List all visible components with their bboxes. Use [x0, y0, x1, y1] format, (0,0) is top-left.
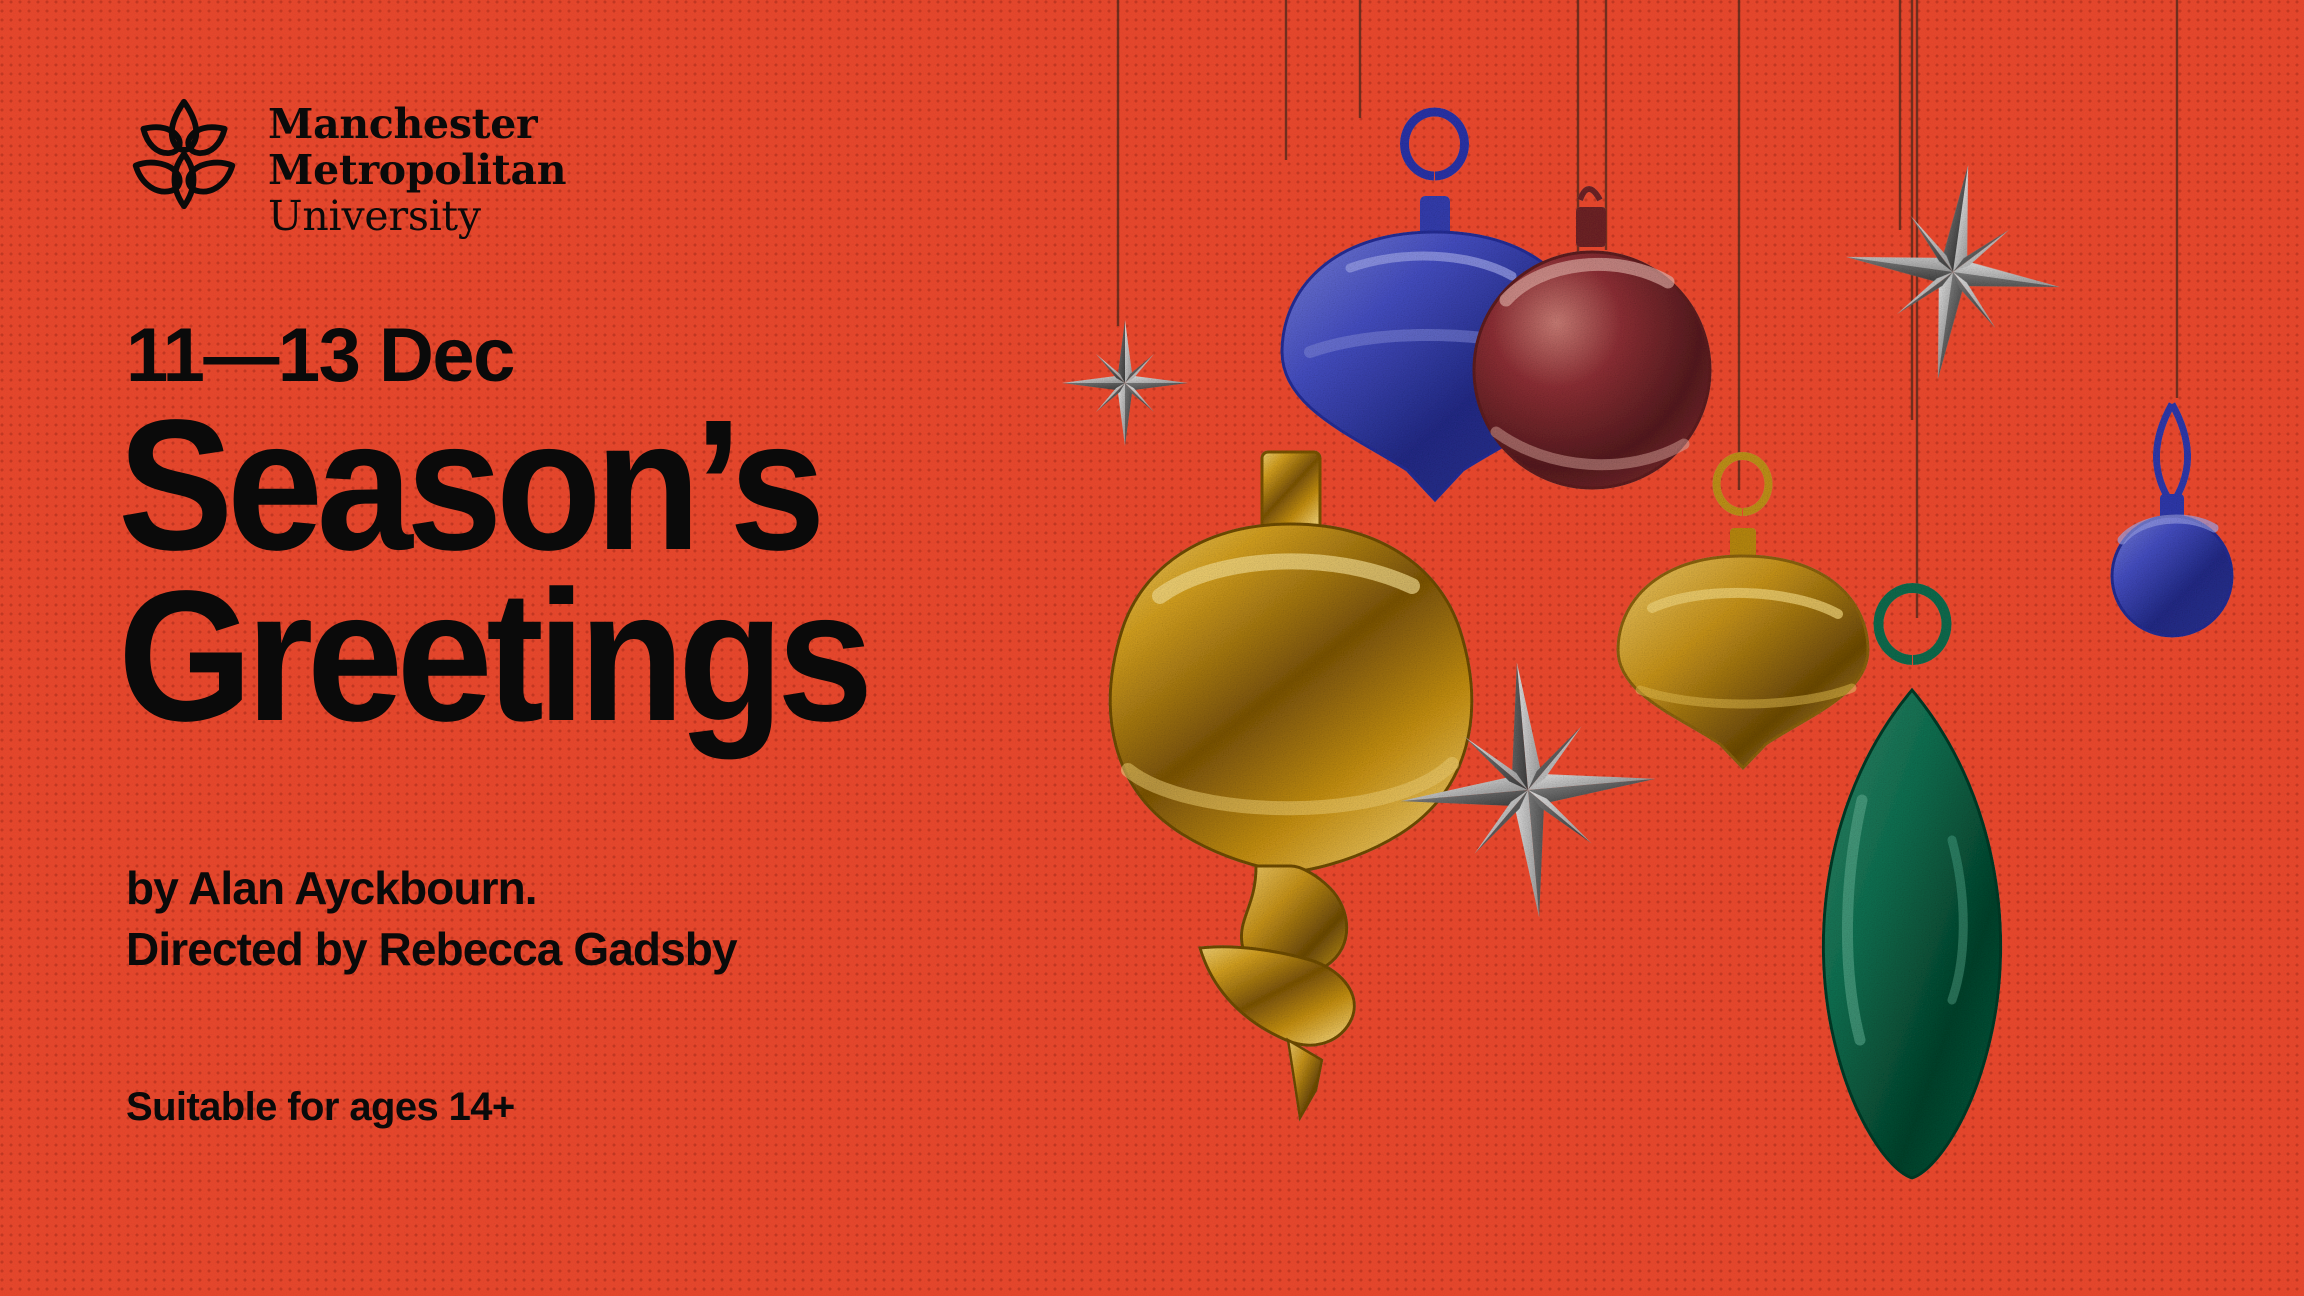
poster-canvas: Manchester Metropolitan University 11—13… — [0, 0, 2304, 1296]
text-column: Manchester Metropolitan University 11—13… — [126, 0, 1126, 1296]
gold-onion-ornament — [1618, 456, 1868, 768]
logo-line-3: University — [268, 196, 566, 237]
university-logo: Manchester Metropolitan University — [126, 96, 566, 237]
title-line-1: Season’s — [118, 400, 867, 571]
blue-small-bauble-ornament — [2112, 404, 2232, 636]
manchester-met-lotus-mark — [126, 96, 242, 212]
credit-author: by Alan Ayckbourn. — [126, 858, 737, 919]
credits-block: by Alan Ayckbourn. Directed by Rebecca G… — [126, 858, 737, 979]
age-guidance: Suitable for ages 14+ — [126, 1085, 515, 1130]
red-bauble-ornament — [1474, 189, 1710, 488]
green-teardrop-ornament — [1823, 588, 2000, 1178]
title-line-2: Greetings — [118, 571, 867, 742]
blue-onion-ornament — [1282, 112, 1588, 500]
page-title: Season’s Greetings — [118, 400, 867, 742]
credit-director: Directed by Rebecca Gadsby — [126, 919, 737, 980]
logo-line-2: Metropolitan — [268, 150, 566, 191]
logo-line-1: Manchester — [268, 104, 566, 145]
silver-star-large-right — [1831, 150, 2075, 394]
gold-large-finial-ornament — [1110, 452, 1471, 1118]
silver-star-large-center — [1389, 651, 1666, 928]
